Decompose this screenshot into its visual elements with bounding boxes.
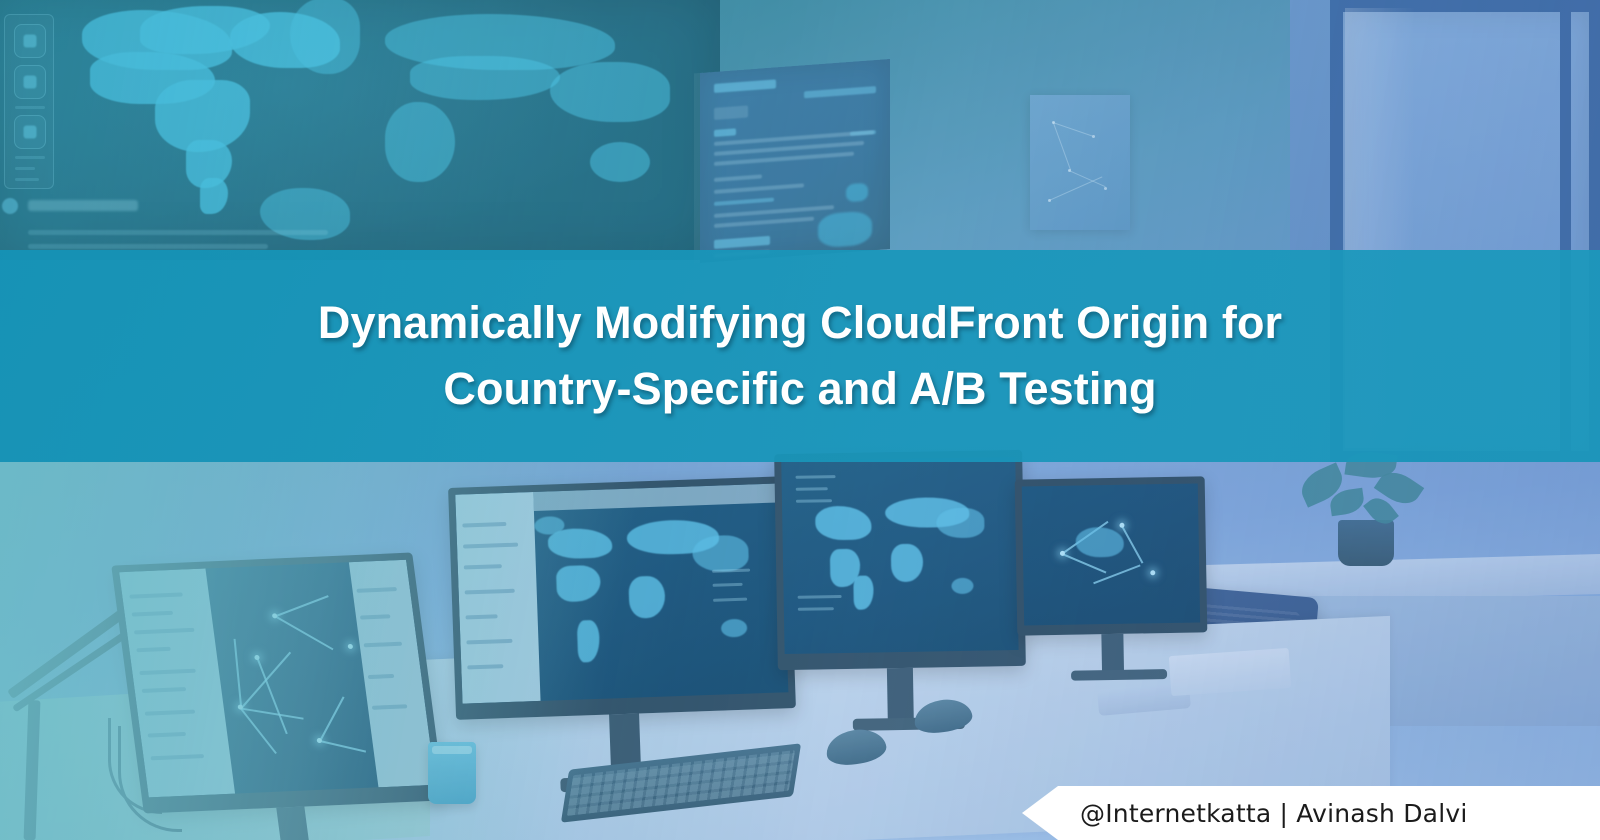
- banner-image: Dynamically Modifying CloudFront Origin …: [0, 0, 1600, 840]
- title-line-1: Dynamically Modifying CloudFront Origin …: [318, 299, 1282, 347]
- banner-title: Dynamically Modifying CloudFront Origin …: [0, 250, 1600, 462]
- left-teal-tint: [0, 462, 760, 840]
- title-line-2: Country-Specific and A/B Testing: [443, 365, 1156, 413]
- attribution-ribbon: @Internetkatta | Avinash Dalvi: [1022, 786, 1600, 840]
- attribution-text: @Internetkatta | Avinash Dalvi: [1080, 799, 1467, 828]
